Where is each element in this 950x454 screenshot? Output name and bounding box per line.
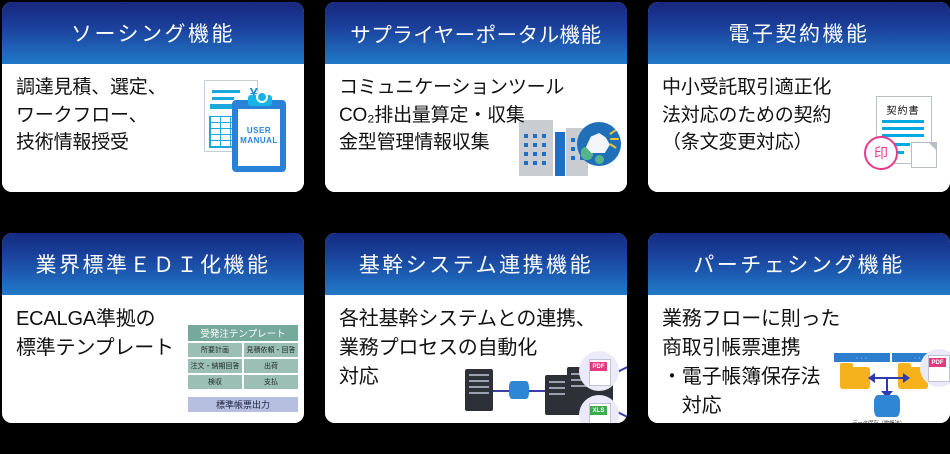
card-e-contract-body: 中小受託取引適正化 法対応のための契約 （条文変更対応） 契約書 印 <box>648 64 950 192</box>
order-template-table-icon: 受発注テンプレート 所要計画 見積依頼・回答 注文・納期回答 出荷 検収 支払 <box>188 325 300 423</box>
contract-fold-shape <box>911 142 937 168</box>
card-sourcing-header: ソーシング機能 <box>2 2 304 64</box>
card-edi-standard-header: 業界標準ＥＤＩ化機能 <box>2 233 304 295</box>
building-window <box>542 161 546 165</box>
left-system-bar-text: • • • <box>834 353 890 362</box>
card-purchasing-text: 業務フローに則った 商取引帳票連携 ・電子帳簿保存法 対応 <box>662 305 840 421</box>
template-header-cell: 受発注テンプレート <box>188 325 298 341</box>
left-folder-icon <box>840 367 870 389</box>
server-slot <box>469 392 489 394</box>
building-window <box>571 147 575 151</box>
card-core-system-link-text: 各社基幹システムとの連携、 業務プロセスの自動化 対応 <box>339 305 596 392</box>
building-window <box>533 161 537 165</box>
template-row: 所要計画 見積依頼・回答 <box>188 343 298 357</box>
contract-title-label: 契約書 <box>876 102 930 117</box>
invoice-line-2 <box>212 97 234 100</box>
template-row: 注文・納期回答 出荷 <box>188 359 298 373</box>
template-cell: 検収 <box>188 375 242 389</box>
template-cell: 支払 <box>244 375 298 389</box>
arrow-head-right <box>903 373 910 383</box>
card-e-contract[interactable]: 電子契約機能 中小受託取引適正化 法対応のための契約 （条文変更対応） 契約書 … <box>648 2 950 192</box>
card-core-system-link-title: 基幹システム連携機能 <box>359 249 593 279</box>
globe-spark <box>610 138 619 140</box>
pdf-label: PDF <box>929 358 946 367</box>
template-footer-cell: 標準帳票出力 <box>188 397 298 412</box>
card-purchasing-title: パーチェシング機能 <box>693 249 905 279</box>
card-core-system-link-header: 基幹システム連携機能 <box>325 233 627 295</box>
card-supplier-portal-header: サプライヤーポータル機能 <box>325 2 627 64</box>
globe-leaf-shape <box>586 133 610 153</box>
data-exchange-storage-icon: • • • • • • PDF データ保存（電帳法） <box>834 353 950 423</box>
contract-document-seal-icon: 契約書 印 <box>864 94 948 184</box>
seal-label: 印 <box>874 146 888 160</box>
card-supplier-portal[interactable]: サプライヤーポータル機能 コミュニケーションツール CO₂排出量算定・収集 金型… <box>325 2 627 192</box>
card-edi-standard[interactable]: 業界標準ＥＤＩ化機能 ECALGA準拠の 標準テンプレート 受発注テンプレート … <box>2 233 304 423</box>
card-e-contract-title: 電子契約機能 <box>729 18 870 48</box>
exchange-arrow-horizontal <box>874 377 904 379</box>
template-footer-row: 標準帳票出力 <box>188 397 298 412</box>
card-e-contract-text: 中小受託取引適正化 法対応のための契約 （条文変更対応） <box>662 74 831 157</box>
building-window <box>571 156 575 160</box>
card-supplier-portal-title: サプライヤーポータル機能 <box>350 18 601 48</box>
seal-stamp-icon: 印 <box>864 136 898 170</box>
feature-card-grid: ソーシング機能 調達見積、選定、 ワークフロー、 技術情報授受 ¥ USER M… <box>0 0 950 454</box>
contract-line <box>882 134 924 137</box>
template-header-row: 受発注テンプレート <box>188 325 298 341</box>
manual-label: MANUAL <box>240 136 278 145</box>
card-sourcing-body: 調達見積、選定、 ワークフロー、 技術情報授受 ¥ USER MANUAL <box>2 64 304 192</box>
globe-land-shape <box>595 155 604 164</box>
card-supplier-portal-text: コミュニケーションツール CO₂排出量算定・収集 金型管理情報収集 <box>339 74 564 157</box>
card-sourcing-title: ソーシング機能 <box>71 18 235 48</box>
card-sourcing[interactable]: ソーシング機能 調達見積、選定、 ワークフロー、 技術情報授受 ¥ USER M… <box>2 2 304 192</box>
user-manual-label: USER MANUAL <box>238 126 280 146</box>
arrow-head-left <box>868 373 875 383</box>
globe-spark <box>609 143 617 149</box>
template-cell: 出荷 <box>244 359 298 373</box>
card-purchasing[interactable]: パーチェシング機能 業務フローに則った 商取引帳票連携 ・電子帳簿保存法 対応 … <box>648 233 950 423</box>
card-core-system-link[interactable]: 基幹システム連携機能 各社基幹システムとの連携、 業務プロセスの自動化 対応 <box>325 233 627 423</box>
clipboard-knob-shape <box>256 91 268 103</box>
contract-line <box>882 127 924 130</box>
contract-line <box>882 120 924 123</box>
card-e-contract-header: 電子契約機能 <box>648 2 950 64</box>
card-edi-standard-title: 業界標準ＥＤＩ化機能 <box>36 249 271 279</box>
template-cell: 所要計画 <box>188 343 242 357</box>
template-cell: 注文・納期回答 <box>188 359 242 373</box>
template-table: 受発注テンプレート 所要計画 見積依頼・回答 注文・納期回答 出荷 検収 支払 <box>188 325 298 414</box>
invoice-clipboard-icon: ¥ USER MANUAL <box>198 76 298 182</box>
xls-label: XLS <box>590 406 607 415</box>
card-edi-standard-text: ECALGA準拠の 標準テンプレート <box>16 305 174 363</box>
card-edi-standard-body: ECALGA準拠の 標準テンプレート 受発注テンプレート 所要計画 見積依頼・回… <box>2 295 304 423</box>
card-purchasing-body: 業務フローに則った 商取引帳票連携 ・電子帳簿保存法 対応 • • • • • … <box>648 295 950 423</box>
template-cell: 見積依頼・回答 <box>244 343 298 357</box>
invoice-line-1 <box>212 90 240 93</box>
building-window <box>524 161 528 165</box>
server-slot <box>549 393 565 395</box>
user-label: USER <box>247 126 271 135</box>
card-purchasing-header: パーチェシング機能 <box>648 233 950 295</box>
card-supplier-portal-body: コミュニケーションツール CO₂排出量算定・収集 金型管理情報収集 <box>325 64 627 192</box>
globe-spark <box>609 129 617 135</box>
template-row: 検収 支払 <box>188 375 298 389</box>
storage-cylinder-icon <box>874 395 900 417</box>
card-sourcing-text: 調達見積、選定、 ワークフロー、 技術情報授受 <box>16 74 166 157</box>
building-window <box>571 138 575 142</box>
card-core-system-link-body: 各社基幹システムとの連携、 業務プロセスの自動化 対応 <box>325 295 627 423</box>
globe-shape <box>577 122 621 166</box>
storage-caption: データ保存（電帳法） <box>852 419 905 423</box>
